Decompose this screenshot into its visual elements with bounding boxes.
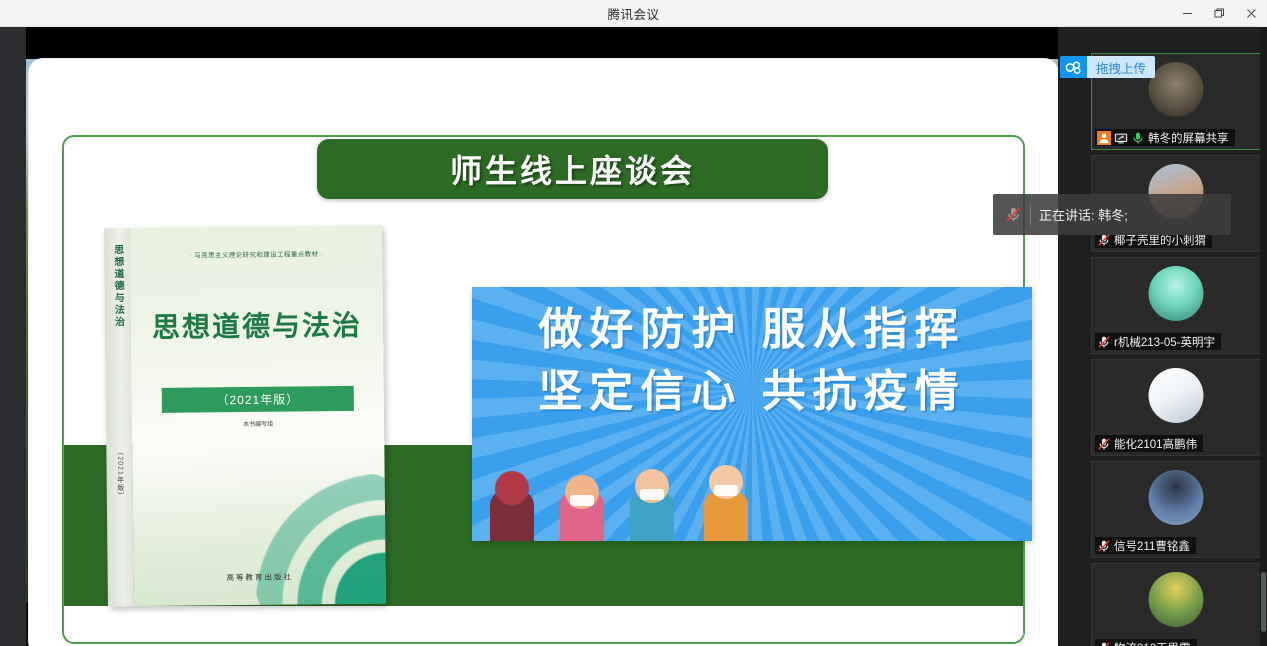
- book-kicker-text: · 马克思主义理论研究和建设工程重点教材 ·: [130, 248, 382, 261]
- book-front-face: · 马克思主义理论研究和建设工程重点教材 · 思想道德与法治 （2021年版） …: [130, 226, 386, 607]
- panel-scrollbar[interactable]: [1260, 27, 1267, 646]
- participant-tile[interactable]: 信号211曹铭鑫: [1091, 461, 1261, 558]
- share-letterbox-band: [26, 27, 1058, 59]
- windows-activation-watermark: 激活 Windows 转到"设置"以激活 Windows。: [894, 607, 1044, 643]
- cloud-upload-icon: [1060, 56, 1087, 78]
- mic-muted-icon: [1097, 335, 1111, 349]
- panel-scrollbar-thumb[interactable]: [1261, 572, 1266, 632]
- minimize-button[interactable]: [1171, 0, 1203, 27]
- avatar: [1149, 470, 1204, 525]
- participant-label: 韩冬的屏幕共享: [1095, 129, 1235, 146]
- banner-text-block: 做好防护 服从指挥 坚定信心 共抗疫情: [472, 299, 1032, 423]
- banner-kids-illustration: [472, 455, 1032, 541]
- participant-tile[interactable]: r机械213-05-英明宇: [1091, 257, 1261, 354]
- participant-label: r机械213-05-英明宇: [1095, 333, 1221, 350]
- avatar: [1149, 62, 1204, 117]
- toast-divider: [1030, 205, 1031, 225]
- mic-muted-icon: [1097, 641, 1111, 646]
- speaking-toast-text: 正在讲话: 韩冬;: [1039, 205, 1128, 224]
- close-button[interactable]: [1235, 0, 1267, 27]
- slide-title-text: 师生线上座谈会: [450, 146, 695, 192]
- title-bar: 腾讯会议: [0, 0, 1267, 27]
- avatar: [1149, 368, 1204, 423]
- screen-share-icon: [1114, 131, 1128, 145]
- person-orange-icon: [1097, 131, 1111, 145]
- participant-label: 能化2101高鹏伟: [1095, 435, 1203, 452]
- close-icon: [1246, 8, 1257, 19]
- book-byline-text: 本书编写组: [132, 418, 384, 430]
- mic-muted-icon: [1097, 437, 1111, 451]
- avatar: [1149, 572, 1204, 627]
- kid-figure: [694, 459, 758, 541]
- book-spine-edition: （2021年版）: [114, 448, 125, 500]
- participant-name: 能化2101高鹏伟: [1114, 436, 1197, 452]
- speaking-toast: 正在讲话: 韩冬;: [993, 194, 1231, 235]
- watermark-line-2: 转到"设置"以激活 Windows。: [894, 628, 1044, 643]
- textbook-cover-image: 思想道德与法治 （2021年版） · 马克思主义理论研究和建设工程重点教材 · …: [104, 226, 386, 607]
- minimize-icon: [1182, 8, 1193, 19]
- mic-muted-icon: [1097, 539, 1111, 553]
- epidemic-prevention-banner: 做好防护 服从指挥 坚定信心 共抗疫情: [472, 287, 1032, 541]
- restore-icon: [1214, 8, 1225, 19]
- presentation-slide[interactable]: 师生线上座谈会 思想道德与法治 （2021年版） · 马克思主义理论研究和建设工…: [29, 59, 1058, 646]
- book-title-text: 思想道德与法治: [131, 304, 383, 347]
- kid-figure: [622, 463, 682, 541]
- banner-line-2: 坚定信心 共抗疫情: [472, 361, 1032, 423]
- book-publisher-text: 高等教育出版社: [134, 571, 386, 585]
- kid-figure: [552, 469, 612, 541]
- participant-tile[interactable]: 能化2101高鹏伟: [1091, 359, 1261, 456]
- shared-screen-stage[interactable]: 师生线上座谈会 思想道德与法治 （2021年版） · 马克思主义理论研究和建设工…: [26, 27, 1058, 646]
- book-edition-band: （2021年版）: [162, 386, 354, 413]
- window-title: 腾讯会议: [607, 4, 659, 23]
- slide-title-banner: 师生线上座谈会: [317, 139, 828, 199]
- app-body: 师生线上座谈会 思想道德与法治 （2021年版） · 马克思主义理论研究和建设工…: [0, 27, 1267, 646]
- participant-name: 信号211曹铭鑫: [1114, 538, 1190, 554]
- left-rail: [0, 27, 26, 646]
- mic-on-icon: [1131, 131, 1145, 145]
- window-controls: [1171, 0, 1267, 27]
- book-spine-title: 思想道德与法治: [110, 244, 126, 328]
- avatar: [1149, 266, 1204, 321]
- participant-label: 信号211曹铭鑫: [1095, 537, 1196, 554]
- drag-upload-label: 拖拽上传: [1087, 56, 1155, 78]
- participant-name: r机械213-05-英明宇: [1114, 334, 1215, 350]
- drag-upload-badge[interactable]: 拖拽上传: [1060, 56, 1155, 78]
- watermark-line-1: 激活 Windows: [894, 607, 1044, 628]
- mic-muted-icon: [1005, 206, 1022, 223]
- participants-panel[interactable]: 韩冬的屏幕共享 椰子壳里的小刺猬: [1058, 27, 1267, 646]
- participant-tile[interactable]: 物流213王思雷: [1091, 563, 1261, 646]
- participant-label: 物流213王思雷: [1095, 639, 1197, 646]
- kid-figure: [482, 465, 542, 541]
- participant-name: 物流213王思雷: [1114, 640, 1191, 646]
- maximize-button[interactable]: [1203, 0, 1235, 27]
- book-edition-text: （2021年版）: [216, 390, 299, 408]
- banner-line-1: 做好防护 服从指挥: [472, 299, 1032, 361]
- book-spine: 思想道德与法治 （2021年版）: [104, 228, 134, 606]
- participant-name: 韩冬的屏幕共享: [1148, 130, 1229, 146]
